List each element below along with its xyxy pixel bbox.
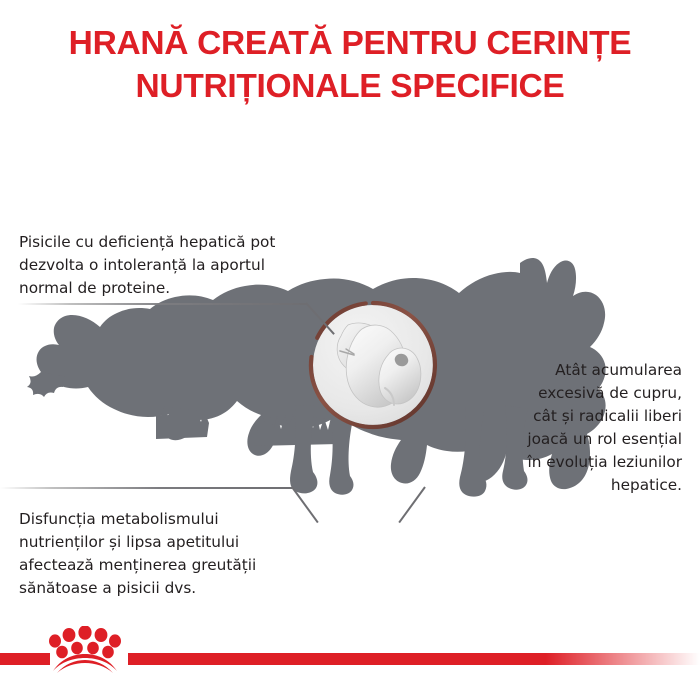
brand-bar-left-segment — [0, 653, 50, 665]
footer-brand-bar — [0, 610, 700, 700]
infographic-page: HRANĂ CREATĂ PENTRU CERINȚE NUTRIȚIONALE… — [0, 0, 700, 700]
callout-top-left-line-3: normal de proteine. — [19, 277, 275, 300]
callout-bottom-left-line-4: sănătoase a pisicii dvs. — [19, 577, 256, 600]
callout-top-left: Pisicile cu deficiență hepatică pot dezv… — [19, 231, 275, 300]
callout-bottom-left-line-1: Disfuncția metabolismului — [19, 508, 256, 531]
callout-top-left-line-2: dezvolta o intoleranță la aportul — [19, 254, 275, 277]
callout-right-line-3: cât și radicalii liberi — [527, 405, 682, 428]
page-title-line-1: HRANĂ CREATĂ PENTRU CERINȚE — [0, 22, 700, 65]
page-title-line-2: NUTRIȚIONALE SPECIFICE — [0, 65, 700, 108]
callout-bottom-left-line-3: afectează menținerea greutății — [19, 554, 256, 577]
callout-top-left-line-1: Pisicile cu deficiență hepatică pot — [19, 231, 275, 254]
callout-right-line-2: excesivă de cupru, — [527, 382, 682, 405]
callout-bottom-left-line-2: nutrienților și lipsa apetitului — [19, 531, 256, 554]
callout-bottom-left: Disfuncția metabolismului nutrienților ș… — [19, 508, 256, 600]
callout-right-line-4: joacă un rol esențial — [527, 428, 682, 451]
callout-right: Atât acumularea excesivă de cupru, cât ș… — [527, 359, 682, 497]
callout-right-line-6: hepatice. — [527, 474, 682, 497]
liver-organ-callout — [311, 303, 435, 427]
callout-right-line-5: în evoluția leziunilor — [527, 451, 682, 474]
callout-right-line-1: Atât acumularea — [527, 359, 682, 382]
royal-canin-crown-icon — [48, 626, 122, 674]
page-title: HRANĂ CREATĂ PENTRU CERINȚE NUTRIȚIONALE… — [0, 22, 700, 108]
crown-svg — [48, 626, 122, 674]
brand-bar-right-segment — [128, 653, 700, 665]
connector-top-left-horizontal — [18, 303, 306, 305]
connector-bottom-left-horizontal — [0, 487, 292, 489]
